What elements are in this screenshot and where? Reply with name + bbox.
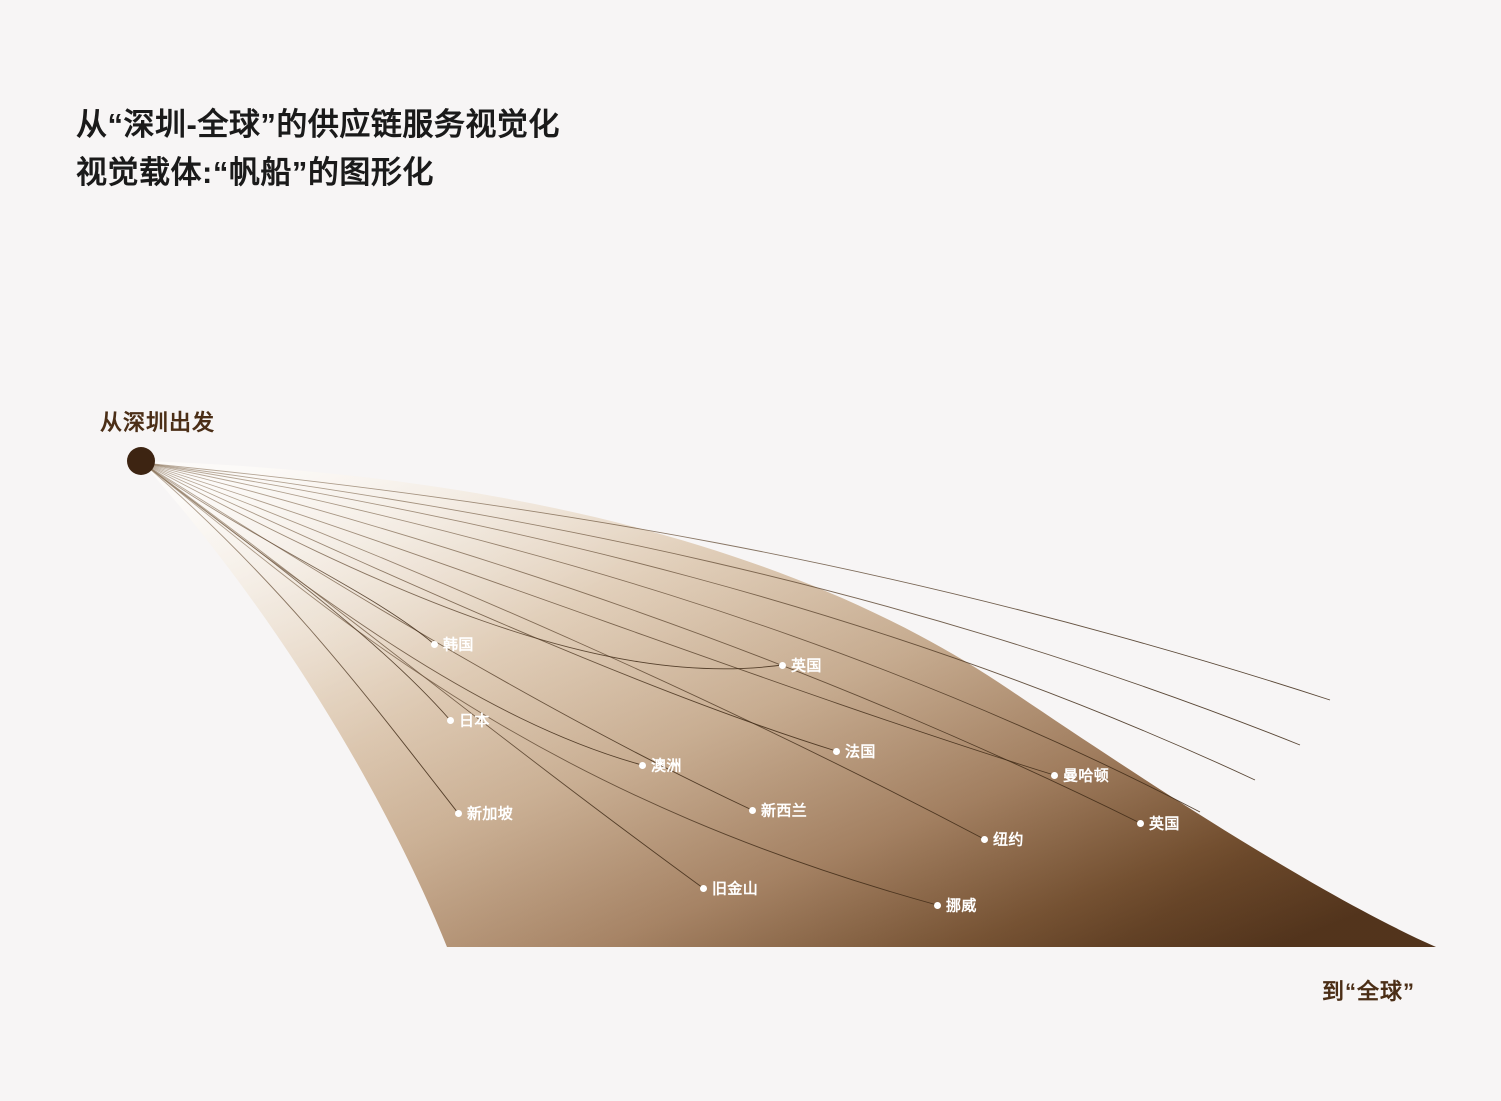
terminus-label: 到“全球” [1322, 974, 1415, 1006]
destination-label: 纽约 [993, 829, 1024, 850]
origin-dot [121, 441, 161, 481]
destination-label: 澳洲 [651, 755, 682, 776]
destination-label: 英国 [1149, 813, 1180, 834]
destination-label: 曼哈顿 [1063, 765, 1109, 786]
destination-label: 英国 [791, 655, 822, 676]
destination-label: 旧金山 [712, 878, 758, 899]
sail-body [141, 461, 1436, 947]
destination-dot [934, 902, 941, 909]
destination-dot [981, 836, 988, 843]
destination-label: 韩国 [443, 634, 474, 655]
destination-label: 日本 [459, 710, 490, 731]
destination-dot [447, 717, 454, 724]
destination-label: 新西兰 [761, 800, 807, 821]
destination-dot [779, 662, 786, 669]
sail-sheen [141, 461, 1436, 947]
page-title: 从“深圳-全球”的供应链服务视觉化 视觉载体:“帆船”的图形化 [76, 101, 976, 197]
title-line-1: 从“深圳-全球”的供应链服务视觉化 [76, 101, 976, 149]
destination-dot [1137, 820, 1144, 827]
destination-dot [639, 762, 646, 769]
destination-dot [431, 641, 438, 648]
destination-dot [833, 748, 840, 755]
origin-label: 从深圳出发 [100, 405, 215, 437]
destination-label: 法国 [845, 741, 876, 762]
destination-dot [700, 885, 707, 892]
origin-dot-circle [127, 447, 155, 475]
title-line-2: 视觉载体:“帆船”的图形化 [76, 149, 976, 197]
destination-dot [1051, 772, 1058, 779]
destination-label: 挪威 [946, 895, 977, 916]
destination-label: 新加坡 [467, 803, 513, 824]
destination-dot [749, 807, 756, 814]
destination-dot [455, 810, 462, 817]
canvas-root: 从“深圳-全球”的供应链服务视觉化 视觉载体:“帆船”的图形化 从深圳出发 韩国… [0, 0, 1501, 1101]
